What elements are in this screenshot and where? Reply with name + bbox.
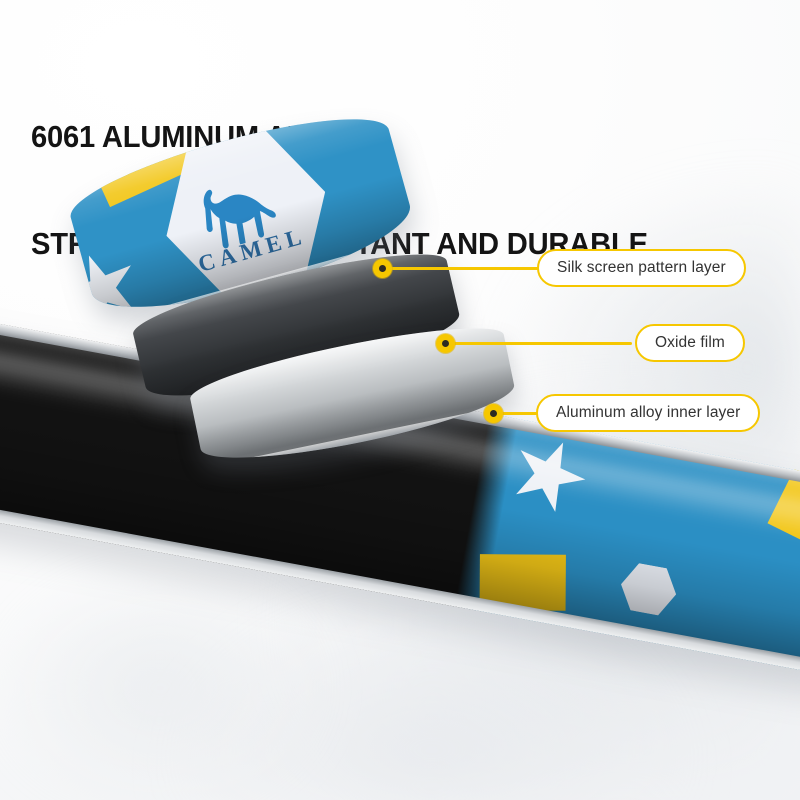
- callout-dot-icon-1: [373, 259, 392, 278]
- callout-connector-line-1: [390, 267, 540, 270]
- callout-dot-icon-2: [436, 334, 455, 353]
- callout-label-aluminum-alloy-inner-layer[interactable]: Aluminum alloy inner layer: [536, 394, 760, 432]
- callout-dot-icon-3: [484, 404, 503, 423]
- callout-label-silk-screen-pattern-layer[interactable]: Silk screen pattern layer: [537, 249, 746, 287]
- callout-connector-line-3: [500, 412, 540, 415]
- callout-label-oxide-film[interactable]: Oxide film: [635, 324, 745, 362]
- product-infographic: 6061 ALUMINUM ALLOY STRONG, WEAR-RESISTA…: [0, 0, 800, 800]
- callout-connector-line-2: [452, 342, 632, 345]
